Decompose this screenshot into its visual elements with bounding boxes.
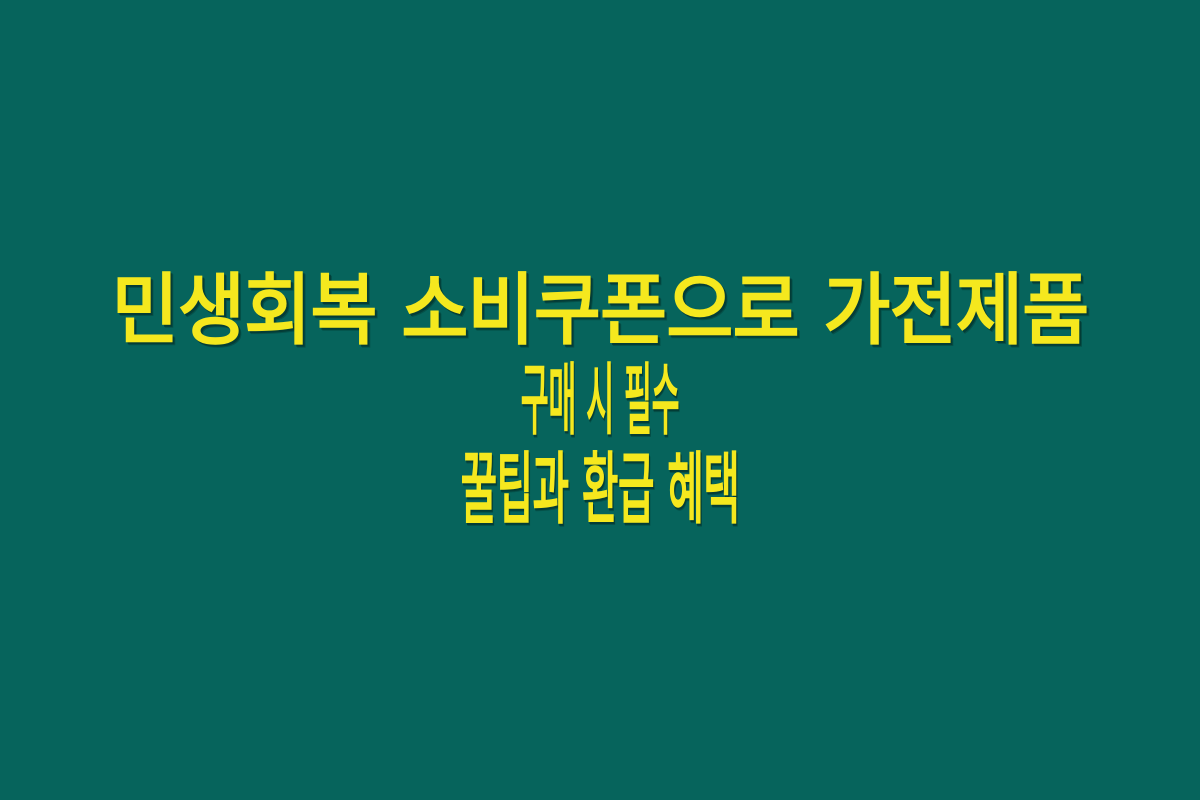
headline-line-3: 꿀팁과 환급 혜택	[300, 445, 900, 535]
title-card: 민생회복 소비쿠폰으로 가전제품 구매 시 필수 꿀팁과 환급 혜택	[0, 0, 1200, 800]
headline-block: 민생회복 소비쿠폰으로 가전제품 구매 시 필수 꿀팁과 환급 혜택	[0, 265, 1200, 535]
headline-line-1: 민생회복 소비쿠폰으로 가전제품	[48, 265, 1152, 357]
headline-line-2: 구매 시 필수	[370, 357, 830, 445]
